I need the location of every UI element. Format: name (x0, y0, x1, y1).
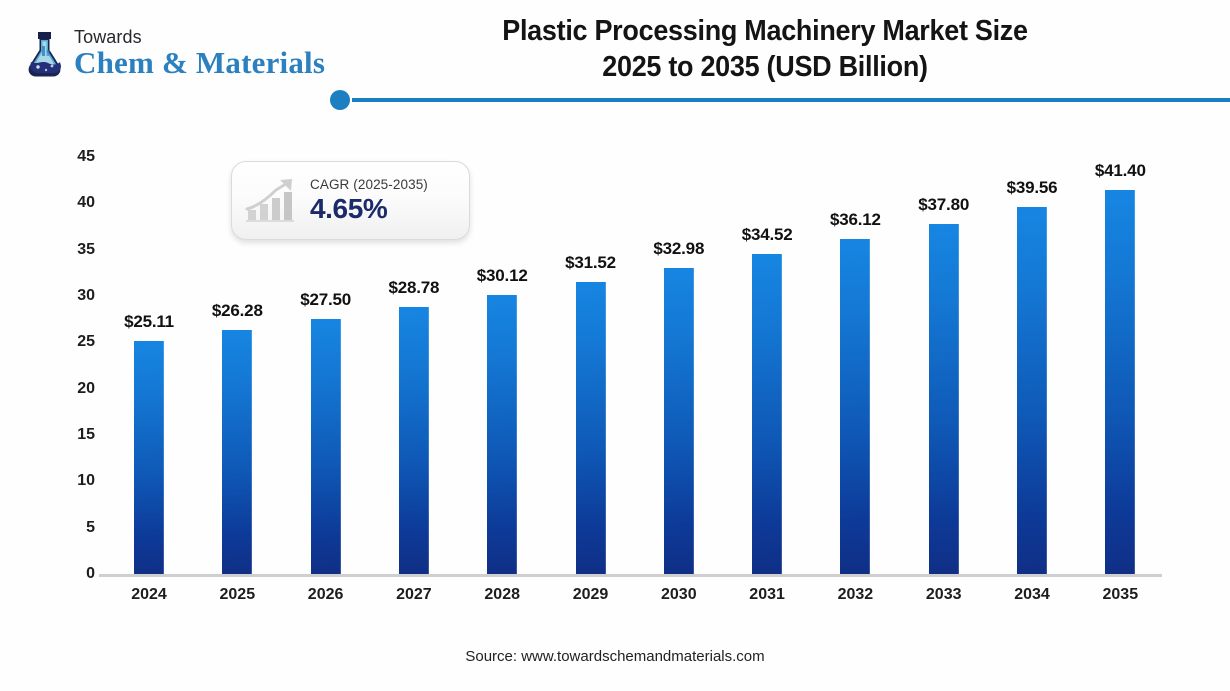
bar-value-label: $41.40 (1095, 161, 1146, 181)
source-note: Source: www.towardschemandmaterials.com (0, 648, 1230, 665)
x-axis-tick-label: 2027 (396, 586, 432, 604)
bar[interactable] (134, 341, 164, 574)
cagr-texts: CAGR (2025-2035) 4.65% (310, 178, 428, 224)
bar[interactable] (222, 330, 252, 574)
bar[interactable] (487, 295, 517, 574)
y-axis-tick-label: 5 (53, 519, 95, 537)
brand-line-1: Towards (74, 28, 325, 46)
bar-item[interactable]: $27.502026 (290, 319, 362, 574)
y-axis-tick-label: 25 (53, 333, 95, 351)
bar[interactable] (664, 268, 694, 574)
bar-value-label: $31.52 (565, 253, 616, 273)
y-axis-tick-label: 0 (53, 565, 95, 583)
x-axis-tick-label: 2026 (308, 586, 344, 604)
x-axis-tick-label: 2033 (926, 586, 962, 604)
bar[interactable] (576, 282, 606, 574)
bar-item[interactable]: $26.282025 (201, 330, 273, 574)
brand-wordmark: Towards Chem & Materials (74, 26, 325, 78)
cagr-badge: CAGR (2025-2035) 4.65% (231, 161, 470, 240)
y-axis-tick-label: 30 (53, 287, 95, 305)
header-rule (352, 98, 1230, 102)
bar[interactable] (752, 254, 782, 574)
brand-logo: Towards Chem & Materials (18, 26, 325, 82)
bar[interactable] (311, 319, 341, 574)
bar-item[interactable]: $32.982030 (643, 268, 715, 574)
bar[interactable] (1017, 207, 1047, 574)
y-axis-tick-label: 40 (53, 194, 95, 212)
y-axis-tick-label: 20 (53, 380, 95, 398)
header-rule-dot (330, 90, 350, 110)
x-axis-tick-label: 2035 (1103, 586, 1139, 604)
title-line-2: 2025 to 2035 (USD Billion) (360, 50, 1169, 86)
x-axis-tick-label: 2025 (220, 586, 256, 604)
y-axis-tick-label: 10 (53, 472, 95, 490)
growth-bar-chart-icon (242, 176, 306, 226)
bar-item[interactable]: $28.782027 (378, 307, 450, 574)
bar-value-label: $37.80 (918, 195, 969, 215)
cagr-label: CAGR (2025-2035) (310, 178, 428, 192)
bar-value-label: $39.56 (1007, 178, 1058, 198)
x-axis-tick-label: 2034 (1014, 586, 1050, 604)
plot-area: 051015202530354045 $25.112024$26.282025$… (0, 110, 1230, 630)
title-line-1: Plastic Processing Machinery Market Size (360, 14, 1169, 50)
bar-item[interactable]: $36.122032 (819, 239, 891, 574)
brand-line-2: Chem & Materials (74, 47, 325, 78)
bar[interactable] (1105, 190, 1135, 574)
bar-item[interactable]: $41.402035 (1084, 190, 1156, 574)
x-axis-line (99, 574, 1162, 577)
chart-canvas: Towards Chem & Materials Plastic Process… (0, 0, 1230, 691)
bar-value-label: $26.28 (212, 301, 263, 321)
bar-value-label: $28.78 (388, 278, 439, 298)
bar-value-label: $25.11 (124, 312, 174, 332)
page-title: Plastic Processing Machinery Market Size… (360, 14, 1169, 85)
y-axis-tick-label: 45 (53, 148, 95, 166)
bar[interactable] (399, 307, 429, 574)
flask-icon (18, 26, 70, 82)
bar[interactable] (929, 224, 959, 574)
bar-item[interactable]: $34.522031 (731, 254, 803, 574)
bar-value-label: $32.98 (653, 239, 704, 259)
x-axis-tick-label: 2024 (131, 586, 167, 604)
bar-item[interactable]: $25.112024 (113, 341, 185, 574)
cagr-value: 4.65% (310, 194, 428, 223)
bar-value-label: $30.12 (477, 266, 528, 286)
bar-value-label: $34.52 (742, 225, 793, 245)
bar-item[interactable]: $31.522029 (555, 282, 627, 574)
bar-item[interactable]: $37.802033 (908, 224, 980, 574)
bar[interactable] (840, 239, 870, 574)
bar-item[interactable]: $30.122028 (466, 295, 538, 574)
bar-value-label: $36.12 (830, 210, 881, 230)
bar-item[interactable]: $39.562034 (996, 207, 1068, 574)
y-axis-tick-label: 15 (53, 426, 95, 444)
x-axis-tick-label: 2028 (484, 586, 520, 604)
x-axis-tick-label: 2030 (661, 586, 697, 604)
x-axis-tick-label: 2032 (838, 586, 874, 604)
bar-value-label: $27.50 (300, 290, 351, 310)
x-axis-tick-label: 2031 (749, 586, 785, 604)
y-axis-tick-label: 35 (53, 241, 95, 259)
chart-header: Towards Chem & Materials Plastic Process… (0, 0, 1230, 110)
x-axis-tick-label: 2029 (573, 586, 609, 604)
